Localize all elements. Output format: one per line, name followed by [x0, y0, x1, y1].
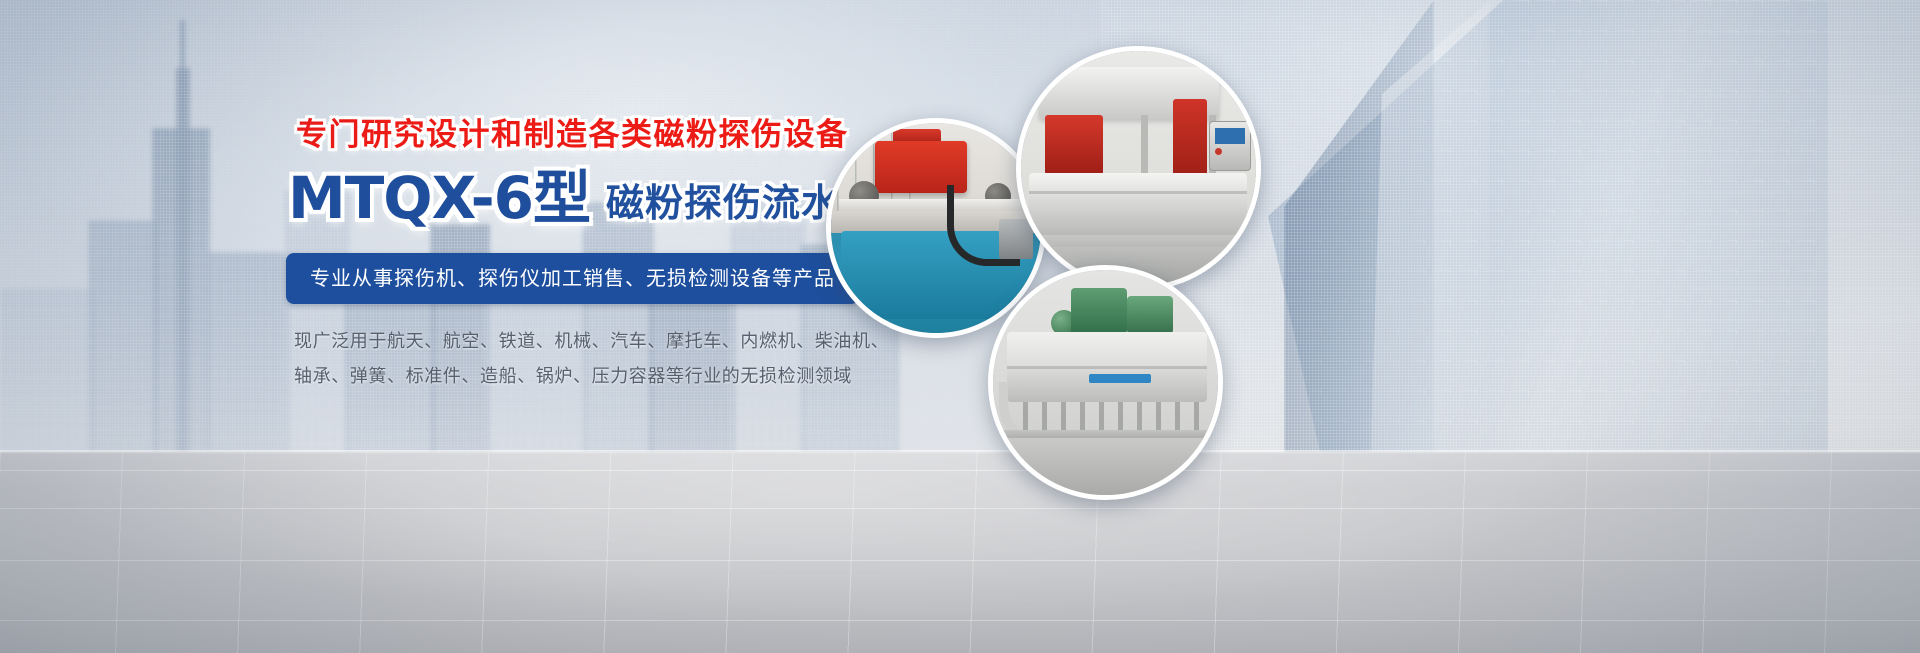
promo-banner: 专门研究设计和制造各类磁粉探伤设备 MTQX-6型 磁粉探伤流水线 专业从事探伤… — [0, 0, 1920, 653]
banner-vignette — [0, 0, 1920, 653]
